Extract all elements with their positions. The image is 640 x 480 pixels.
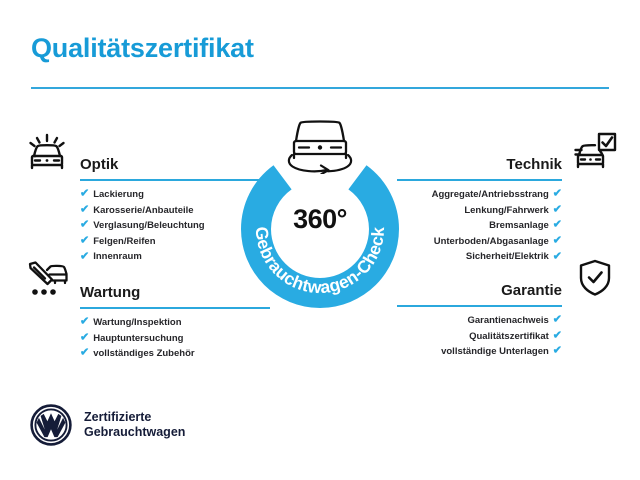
list-item: Qualitätszertifikat✔ <box>441 329 562 345</box>
section-wartung-title: Wartung <box>80 284 140 301</box>
list-item: ✔Wartung/Inspektion <box>80 315 195 331</box>
list-item: Garantienachweis✔ <box>441 313 562 329</box>
list-item-label: Felgen/Reifen <box>93 234 155 250</box>
title-divider <box>31 87 609 89</box>
section-wartung-header: Wartung <box>24 259 246 305</box>
section-garantie: Garantie Garantienachweis✔ Qualitätszert… <box>396 257 618 303</box>
list-item: ✔Hauptuntersuchung <box>80 331 195 347</box>
list-item: ✔Karosserie/Anbauteile <box>80 203 205 219</box>
check-icon: ✔ <box>553 204 562 215</box>
check-icon: ✔ <box>553 330 562 341</box>
list-item-label: Wartung/Inspektion <box>93 315 181 331</box>
car-shine-icon <box>24 131 70 173</box>
section-optik-header: Optik <box>24 131 246 177</box>
list-item-label: Hauptuntersuchung <box>93 331 183 347</box>
list-item-label: Bremsanlage <box>489 218 549 234</box>
section-wartung-list: ✔Wartung/Inspektion ✔Hauptuntersuchung ✔… <box>80 315 195 362</box>
check-icon: ✔ <box>553 346 562 357</box>
list-item: ✔vollständiges Zubehör <box>80 346 195 362</box>
vw-certified-logo-block: Zertifizierte Gebrauchtwagen <box>30 404 185 446</box>
section-garantie-list: Garantienachweis✔ Qualitätszertifikat✔ v… <box>441 313 562 360</box>
section-garantie-header: Garantie <box>396 257 618 303</box>
check-icon: ✔ <box>80 317 89 328</box>
list-item: Bremsanlage✔ <box>432 218 562 234</box>
check-icon: ✔ <box>80 236 89 247</box>
quality-certificate-page: Qualitätszertifikat Optik <box>0 0 640 480</box>
section-wartung: Wartung ✔Wartung/Inspektion ✔Hauptunters… <box>24 259 246 305</box>
list-item-label: Verglasung/Beleuchtung <box>93 218 204 234</box>
section-optik-title: Optik <box>80 156 118 173</box>
shield-check-icon <box>572 257 618 299</box>
page-title: Qualitätszertifikat <box>31 33 254 64</box>
check-icon: ✔ <box>553 220 562 231</box>
gebrauchtwagen-check-badge: Gebrauchtwagen-Check 360° <box>236 112 404 308</box>
list-item: Lenkung/Fahrwerk✔ <box>432 203 562 219</box>
check-icon: ✔ <box>80 348 89 359</box>
section-technik-title: Technik <box>506 156 562 173</box>
list-item-label: Lackierung <box>93 187 144 203</box>
list-item: Aggregate/Antriebsstrang✔ <box>432 187 562 203</box>
list-item-label: Qualitätszertifikat <box>469 329 549 345</box>
list-item-label: Aggregate/Antriebsstrang <box>432 187 549 203</box>
list-item-label: Unterboden/Abgasanlage <box>434 234 549 250</box>
check-icon: ✔ <box>553 236 562 247</box>
list-item-label: vollständige Unterlagen <box>441 344 549 360</box>
check-icon: ✔ <box>80 204 89 215</box>
section-technik-header: Technik <box>396 131 618 177</box>
vw-certified-line2: Gebrauchtwagen <box>84 425 185 440</box>
car-rotate-icon <box>283 112 357 174</box>
list-item: ✔Lackierung <box>80 187 205 203</box>
list-item: vollständige Unterlagen✔ <box>441 344 562 360</box>
list-item-label: vollständiges Zubehör <box>93 346 194 362</box>
list-item-label: Garantienachweis <box>467 313 548 329</box>
vw-logo-icon <box>30 404 72 446</box>
check-icon: ✔ <box>80 220 89 231</box>
list-item: Unterboden/Abgasanlage✔ <box>432 234 562 250</box>
vw-certified-text: Zertifizierte Gebrauchtwagen <box>84 410 185 440</box>
list-item-label: Lenkung/Fahrwerk <box>464 203 548 219</box>
list-item: ✔Felgen/Reifen <box>80 234 205 250</box>
section-optik-list: ✔Lackierung ✔Karosserie/Anbauteile ✔Verg… <box>80 187 205 265</box>
section-garantie-title: Garantie <box>501 282 562 299</box>
car-checkbox-icon <box>572 131 618 173</box>
vw-certified-line1: Zertifizierte <box>84 410 185 425</box>
check-icon: ✔ <box>553 315 562 326</box>
section-technik-list: Aggregate/Antriebsstrang✔ Lenkung/Fahrwe… <box>432 187 562 265</box>
section-technik-divider <box>397 179 562 181</box>
list-item: ✔Verglasung/Beleuchtung <box>80 218 205 234</box>
check-icon: ✔ <box>80 189 89 200</box>
check-icon: ✔ <box>80 332 89 343</box>
badge-degrees: 360° <box>236 204 404 235</box>
section-garantie-divider <box>397 305 562 307</box>
check-icon: ✔ <box>553 189 562 200</box>
section-optik: Optik ✔Lackierung ✔Karosserie/Anbauteile… <box>24 131 246 177</box>
dipstick-oil-car-icon <box>24 259 70 301</box>
section-technik: Technik Aggregate/Antriebsstrang✔ Lenkun… <box>396 131 618 177</box>
list-item-label: Karosserie/Anbauteile <box>93 203 193 219</box>
